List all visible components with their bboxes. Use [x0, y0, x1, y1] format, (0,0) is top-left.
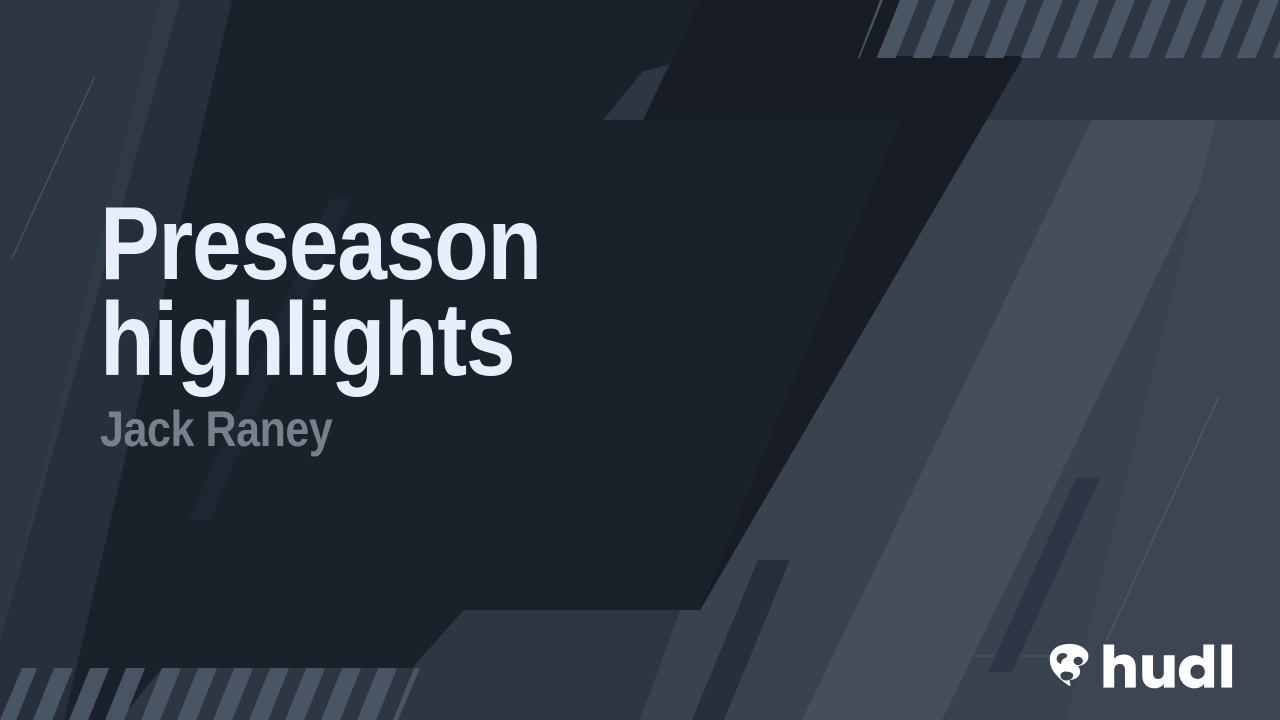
athlete-name: Jack Raney — [100, 402, 754, 456]
hudl-logo — [1047, 640, 1246, 692]
hudl-wordmark — [1102, 643, 1246, 689]
page-title-line-2: highlights — [100, 292, 754, 388]
title-block: Preseason highlights Jack Raney — [100, 196, 860, 456]
hudl-logo-mark-icon — [1047, 643, 1093, 689]
highlight-title-card: Preseason highlights Jack Raney — [0, 0, 1280, 720]
page-title-line-1: Preseason — [100, 196, 754, 292]
